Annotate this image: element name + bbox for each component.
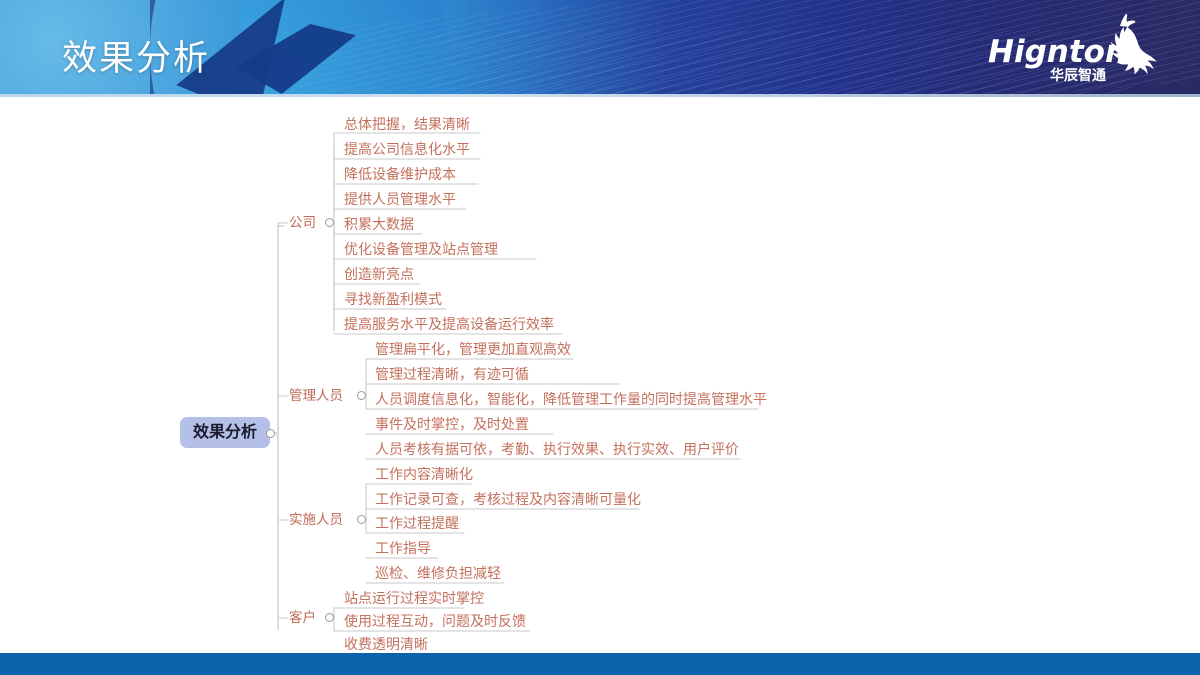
branch-connector-dot-implementers[interactable] [357, 515, 366, 524]
mindmap: 效果分析 公司 总体把握，结果清晰 提高公司信息化水平 降低设备维护成本 提供人… [0, 97, 1200, 653]
logo-wordmark: Hignton [988, 34, 1127, 70]
leaf-item[interactable]: 人员调度信息化，智能化，降低管理工作量的同时提高管理水平 [375, 393, 767, 407]
leaf-item[interactable]: 事件及时掌控，及时处置 [375, 418, 529, 432]
leaf-item[interactable]: 寻找新盈利模式 [344, 293, 442, 307]
leaf-item[interactable]: 使用过程互动，问题及时反馈 [344, 615, 526, 629]
leaf-item[interactable]: 提供人员管理水平 [344, 193, 456, 207]
leaf-item[interactable]: 总体把握，结果清晰 [344, 118, 470, 132]
branch-connector-dot-managers[interactable] [357, 391, 366, 400]
logo-subtext: 华辰智通 [1050, 67, 1106, 84]
mindmap-root-node[interactable]: 效果分析 [180, 417, 270, 448]
page-title: 效果分析 [62, 30, 210, 81]
branch-connector-dot-customer[interactable] [325, 613, 334, 622]
gazelle-icon: Hignton 华辰智通 [968, 10, 1178, 90]
leaf-item[interactable]: 管理扁平化，管理更加直观高效 [375, 343, 571, 357]
slide-header: 效果分析 Hignton 华辰智通 [0, 0, 1200, 97]
leaf-item[interactable]: 积累大数据 [344, 218, 414, 232]
slide: 效果分析 Hignton 华辰智通 [0, 0, 1200, 675]
root-connector-dot[interactable] [266, 429, 275, 438]
leaf-item[interactable]: 创造新亮点 [344, 268, 414, 282]
leaf-item[interactable]: 工作过程提醒 [375, 517, 459, 531]
company-logo: Hignton 华辰智通 [968, 10, 1178, 90]
leaf-item[interactable]: 工作内容清晰化 [375, 468, 473, 482]
leaf-item[interactable]: 优化设备管理及站点管理 [344, 243, 498, 257]
leaf-item[interactable]: 收费透明清晰 [344, 638, 428, 652]
leaf-item[interactable]: 站点运行过程实时掌控 [344, 592, 484, 606]
leaf-item[interactable]: 工作指导 [375, 542, 431, 556]
leaf-item[interactable]: 降低设备维护成本 [344, 168, 456, 182]
leaf-item[interactable]: 巡检、维修负担减轻 [375, 567, 501, 581]
branch-connector-dot-company[interactable] [325, 218, 334, 227]
leaf-item[interactable]: 人员考核有据可依，考勤、执行效果、执行实效、用户评价 [375, 443, 739, 457]
branch-label-managers[interactable]: 管理人员 [289, 390, 343, 404]
branch-label-company[interactable]: 公司 [289, 217, 316, 231]
leaf-item[interactable]: 工作记录可查，考核过程及内容清晰可量化 [375, 493, 641, 507]
mindmap-structure-lines [0, 97, 1200, 653]
leaf-item[interactable]: 管理过程清晰，有迹可循 [375, 368, 529, 382]
branch-label-implementers[interactable]: 实施人员 [289, 514, 343, 528]
slide-footer-bar [0, 653, 1200, 675]
leaf-item[interactable]: 提高服务水平及提高设备运行效率 [344, 318, 554, 332]
branch-label-customer[interactable]: 客户 [289, 612, 316, 626]
leaf-item[interactable]: 提高公司信息化水平 [344, 143, 470, 157]
